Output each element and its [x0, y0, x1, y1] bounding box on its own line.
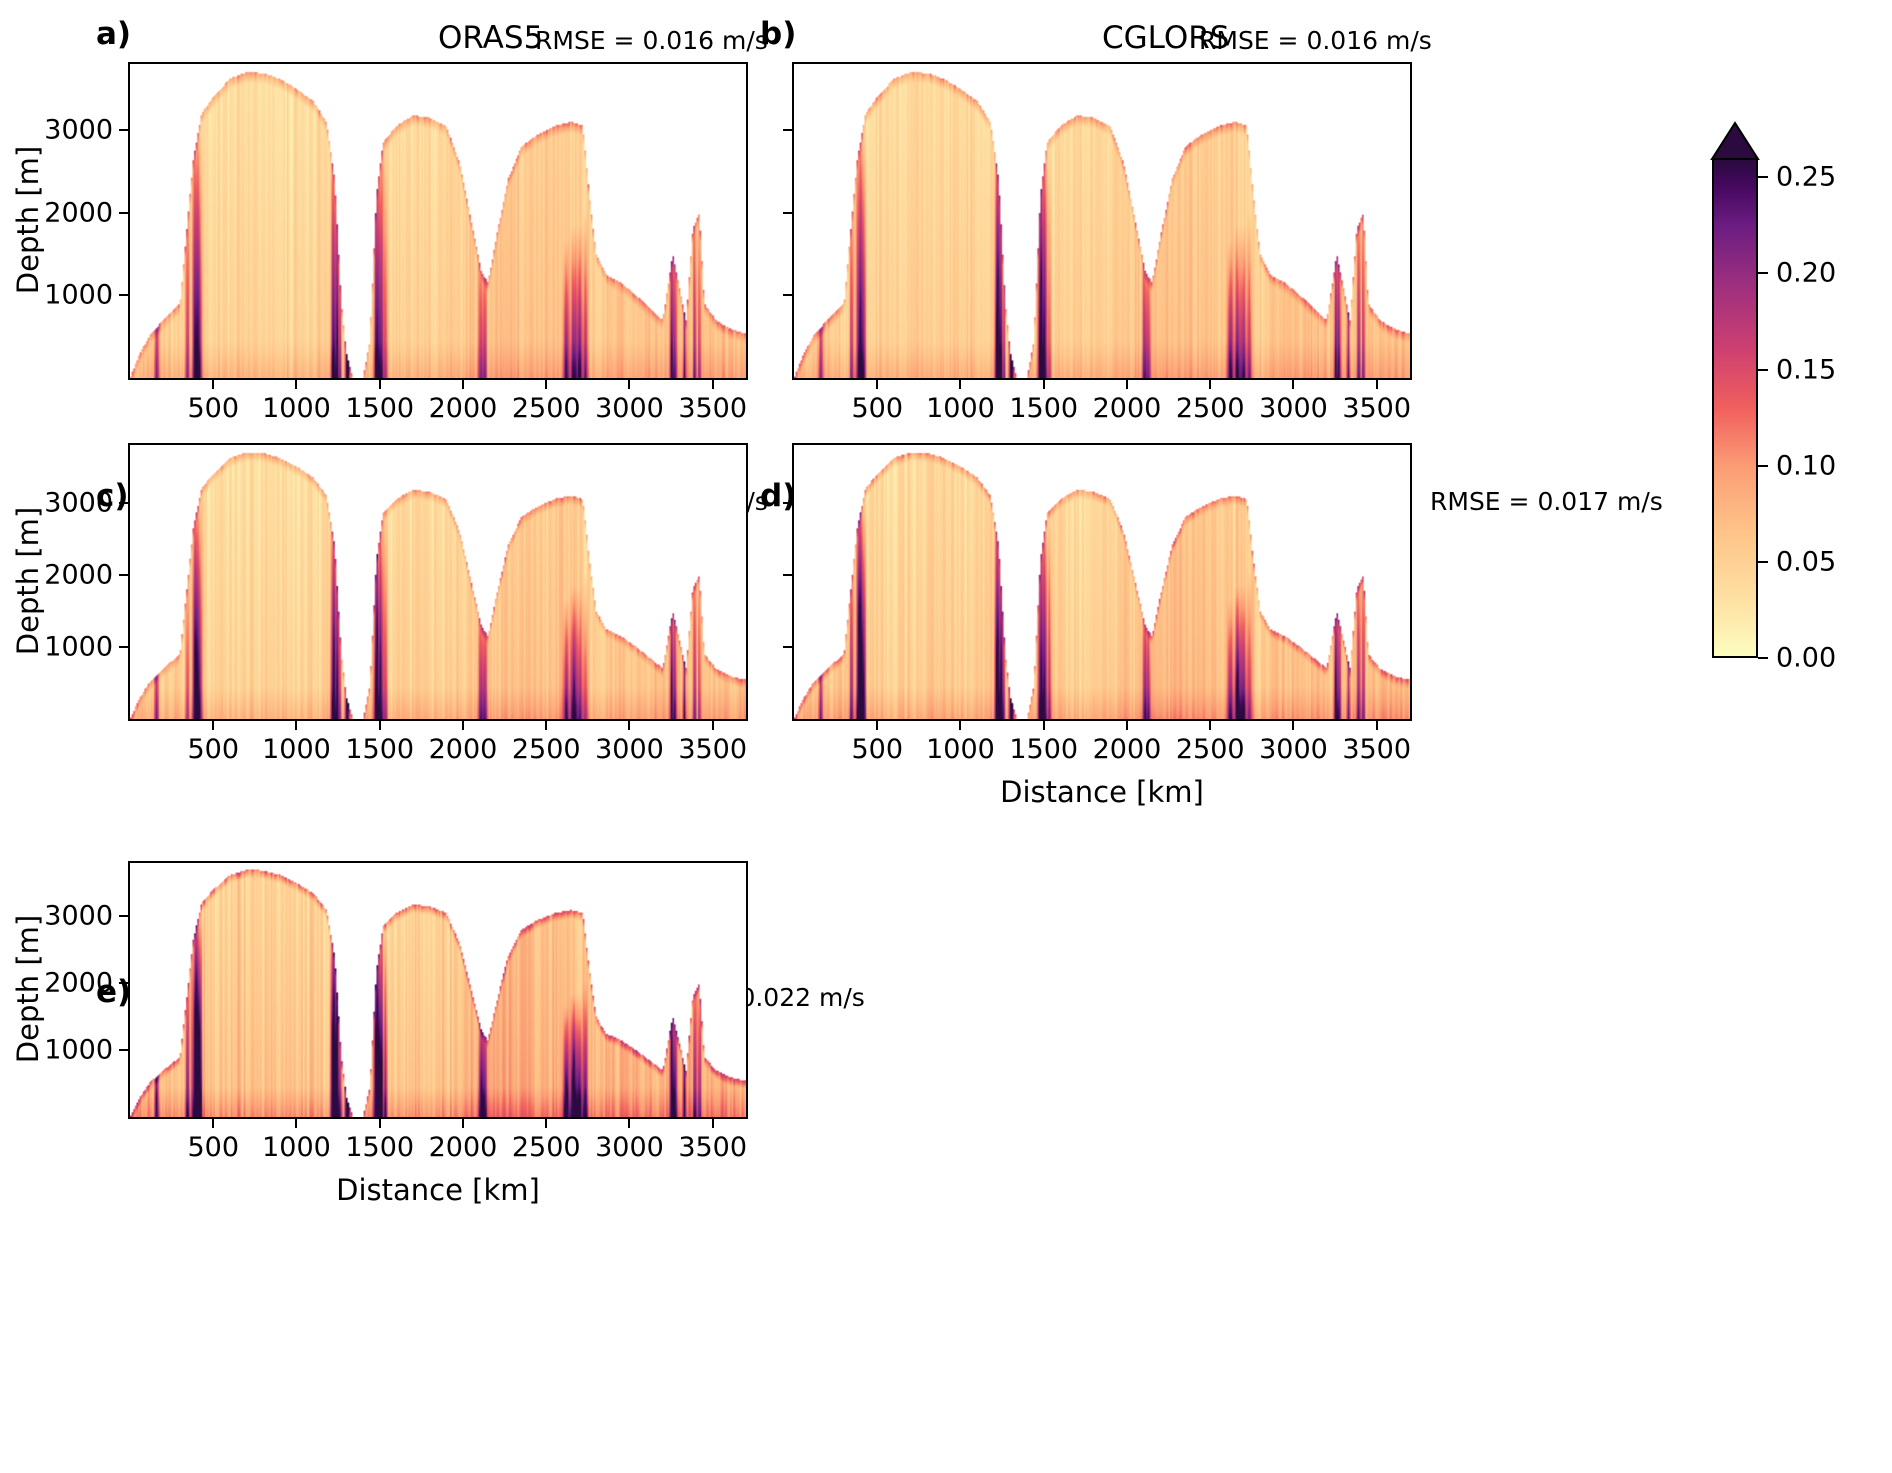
xticklabel-ORAS5-500: 500 [187, 393, 239, 424]
xtick-ORAS5-2500 [545, 380, 547, 389]
xtick-GLORYS2V4-2500 [1209, 721, 1211, 730]
colorbar-tick-0.25 [1758, 176, 1768, 178]
xticklabel-FOAMv2-500: 500 [187, 734, 239, 765]
xticklabel-GLORYSv12-3000: 3000 [595, 1132, 664, 1163]
xticklabel-ORAS5-1500: 1500 [345, 393, 414, 424]
xticklabel-ORAS5-3500: 3500 [678, 393, 747, 424]
xtick-GLORYS2V4-3000 [1292, 721, 1294, 730]
heatmap-canvas-CGLORS [794, 64, 1410, 378]
xtick-GLORYSv12-2000 [462, 1119, 464, 1128]
xtick-FOAMv2-2500 [545, 721, 547, 730]
xticklabel-GLORYS2V4-2500: 2500 [1176, 734, 1245, 765]
xtick-GLORYS2V4-3500 [1376, 721, 1378, 730]
ytick-CGLORS-2000 [783, 212, 792, 214]
xticklabel-FOAMv2-2000: 2000 [429, 734, 498, 765]
xtick-FOAMv2-500 [212, 721, 214, 730]
xticklabel-GLORYSv12-1500: 1500 [345, 1132, 414, 1163]
xtick-CGLORS-3500 [1376, 380, 1378, 389]
colorbar-tick-0.10 [1758, 465, 1768, 467]
colorbar-ticklabel-0.00: 0.00 [1776, 643, 1836, 674]
colorbar-tick-0.20 [1758, 272, 1768, 274]
xtick-GLORYSv12-2500 [545, 1119, 547, 1128]
ytick-GLORYSv12-1000 [119, 1049, 128, 1051]
xtick-CGLORS-3000 [1292, 380, 1294, 389]
xticklabel-CGLORS-2500: 2500 [1176, 393, 1245, 424]
xticklabel-CGLORS-3500: 3500 [1342, 393, 1411, 424]
xtick-FOAMv2-1500 [379, 721, 381, 730]
panel-letter-b: b) [760, 16, 796, 52]
heatmap-canvas-GLORYSv12 [130, 863, 746, 1117]
ytick-ORAS5-2000 [119, 212, 128, 214]
xtick-GLORYSv12-1000 [295, 1119, 297, 1128]
xtick-ORAS5-1500 [379, 380, 381, 389]
panel-rmse-CGLORS: RMSE = 0.016 m/s [1199, 26, 1432, 55]
xticklabel-GLORYS2V4-2000: 2000 [1093, 734, 1162, 765]
ytick-GLORYS2V4-3000 [783, 502, 792, 504]
xtick-FOAMv2-3500 [712, 721, 714, 730]
colorbar-gradient [1714, 160, 1756, 656]
xticklabel-CGLORS-1000: 1000 [926, 393, 995, 424]
xtick-FOAMv2-2000 [462, 721, 464, 730]
xtick-ORAS5-500 [212, 380, 214, 389]
xtick-ORAS5-3000 [628, 380, 630, 389]
colorbar [1712, 158, 1758, 658]
xtick-ORAS5-1000 [295, 380, 297, 389]
xtick-GLORYSv12-1500 [379, 1119, 381, 1128]
plot-area-CGLORS [792, 62, 1412, 380]
xtick-FOAMv2-3000 [628, 721, 630, 730]
colorbar-ticklabel-0.10: 0.10 [1776, 450, 1836, 481]
xticklabel-GLORYS2V4-3500: 3500 [1342, 734, 1411, 765]
xticklabel-GLORYSv12-2500: 2500 [512, 1132, 581, 1163]
colorbar-tick-0.00 [1758, 657, 1768, 659]
ytick-GLORYSv12-3000 [119, 915, 128, 917]
colorbar-ticklabel-0.20: 0.20 [1776, 258, 1836, 289]
xtick-GLORYSv12-3000 [628, 1119, 630, 1128]
xtick-GLORYS2V4-500 [876, 721, 878, 730]
xticklabel-FOAMv2-3500: 3500 [678, 734, 747, 765]
heatmap-canvas-GLORYS2V4 [794, 445, 1410, 719]
ytick-FOAMv2-2000 [119, 574, 128, 576]
colorbar-tick-0.05 [1758, 561, 1768, 563]
xticklabel-ORAS5-2000: 2000 [429, 393, 498, 424]
x-axis-label-GLORYS2V4: Distance [km] [1000, 775, 1204, 809]
xticklabel-GLORYS2V4-3000: 3000 [1259, 734, 1328, 765]
xtick-ORAS5-2000 [462, 380, 464, 389]
xtick-CGLORS-1500 [1043, 380, 1045, 389]
xtick-GLORYS2V4-2000 [1126, 721, 1128, 730]
panel-title-ORAS5: ORAS5 [438, 20, 543, 56]
panel-rmse-ORAS5: RMSE = 0.016 m/s [535, 26, 768, 55]
xtick-ORAS5-3500 [712, 380, 714, 389]
y-axis-label-GLORYSv12: Depth [m] [11, 909, 45, 1069]
plot-area-GLORYS2V4 [792, 443, 1412, 721]
ytick-GLORYS2V4-1000 [783, 646, 792, 648]
y-axis-label-ORAS5: Depth [m] [11, 140, 45, 300]
colorbar-ticklabel-0.25: 0.25 [1776, 162, 1836, 193]
xticklabel-CGLORS-500: 500 [851, 393, 903, 424]
colorbar-tick-0.15 [1758, 369, 1768, 371]
ytick-CGLORS-3000 [783, 129, 792, 131]
plot-area-FOAMv2 [128, 443, 748, 721]
xticklabel-ORAS5-1000: 1000 [262, 393, 331, 424]
xticklabel-FOAMv2-1000: 1000 [262, 734, 331, 765]
heatmap-canvas-ORAS5 [130, 64, 746, 378]
xtick-GLORYSv12-3500 [712, 1119, 714, 1128]
xtick-GLORYSv12-500 [212, 1119, 214, 1128]
xticklabel-GLORYSv12-3500: 3500 [678, 1132, 747, 1163]
xticklabel-CGLORS-3000: 3000 [1259, 393, 1328, 424]
xticklabel-ORAS5-3000: 3000 [595, 393, 664, 424]
panel-letter-d: d) [760, 478, 796, 514]
xticklabel-GLORYS2V4-500: 500 [851, 734, 903, 765]
panel-rmse-GLORYS2V4: RMSE = 0.017 m/s [1430, 487, 1663, 516]
xticklabel-FOAMv2-2500: 2500 [512, 734, 581, 765]
plot-area-GLORYSv12 [128, 861, 748, 1119]
xticklabel-FOAMv2-1500: 1500 [345, 734, 414, 765]
plot-area-ORAS5 [128, 62, 748, 380]
xtick-CGLORS-2000 [1126, 380, 1128, 389]
xtick-GLORYS2V4-1500 [1043, 721, 1045, 730]
xtick-CGLORS-1000 [959, 380, 961, 389]
heatmap-canvas-FOAMv2 [130, 445, 746, 719]
xticklabel-GLORYSv12-2000: 2000 [429, 1132, 498, 1163]
xtick-CGLORS-500 [876, 380, 878, 389]
ytick-ORAS5-3000 [119, 129, 128, 131]
ytick-FOAMv2-1000 [119, 646, 128, 648]
xtick-FOAMv2-1000 [295, 721, 297, 730]
ytick-GLORYS2V4-2000 [783, 574, 792, 576]
xtick-CGLORS-2500 [1209, 380, 1211, 389]
xticklabel-CGLORS-1500: 1500 [1009, 393, 1078, 424]
xticklabel-GLORYS2V4-1500: 1500 [1009, 734, 1078, 765]
xticklabel-CGLORS-2000: 2000 [1093, 393, 1162, 424]
xticklabel-GLORYS2V4-1000: 1000 [926, 734, 995, 765]
colorbar-extend-arrow-icon [1709, 121, 1761, 161]
xtick-GLORYS2V4-1000 [959, 721, 961, 730]
ytick-GLORYSv12-2000 [119, 982, 128, 984]
colorbar-ticklabel-0.05: 0.05 [1776, 546, 1836, 577]
xticklabel-GLORYSv12-1000: 1000 [262, 1132, 331, 1163]
ytick-ORAS5-1000 [119, 294, 128, 296]
ytick-CGLORS-1000 [783, 294, 792, 296]
xticklabel-GLORYSv12-500: 500 [187, 1132, 239, 1163]
xticklabel-ORAS5-2500: 2500 [512, 393, 581, 424]
ytick-FOAMv2-3000 [119, 502, 128, 504]
y-axis-label-FOAMv2: Depth [m] [11, 501, 45, 661]
xticklabel-FOAMv2-3000: 3000 [595, 734, 664, 765]
figure-root: a)ORAS5RMSE = 0.016 m/s50010001500200025… [0, 0, 1892, 1473]
x-axis-label-GLORYSv12: Distance [km] [336, 1173, 540, 1207]
colorbar-ticklabel-0.15: 0.15 [1776, 354, 1836, 385]
panel-letter-a: a) [96, 16, 131, 52]
